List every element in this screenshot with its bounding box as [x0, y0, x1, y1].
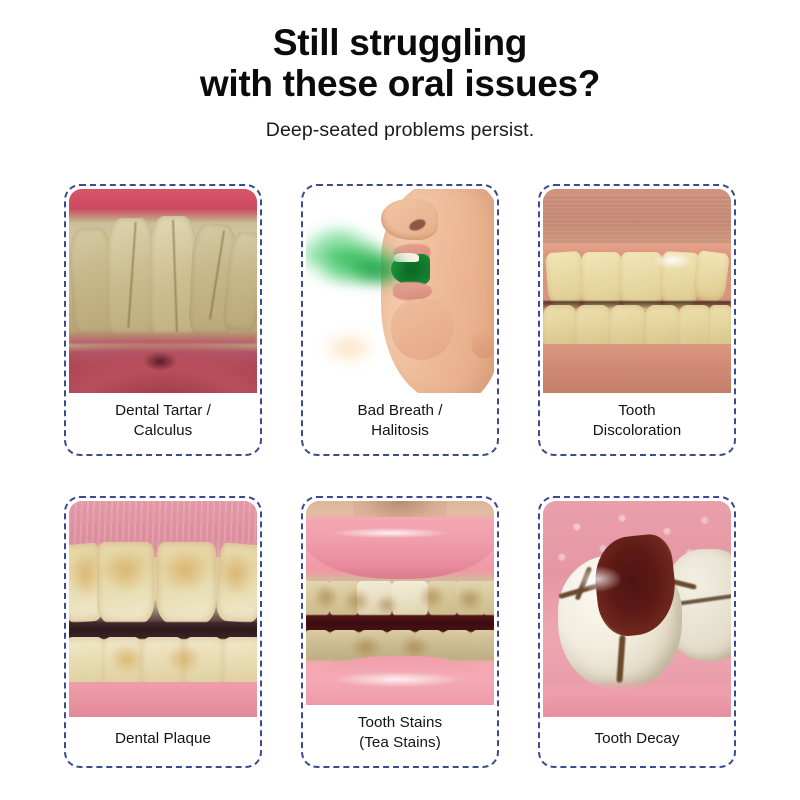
lower-tooth: [471, 630, 494, 661]
plaque-deposit: [110, 644, 144, 674]
issue-image-tooth-discoloration: [543, 189, 731, 393]
issue-card-tooth-decay[interactable]: Tooth Decay: [538, 496, 736, 768]
page-title-line-1: Still struggling: [0, 22, 800, 63]
issue-image-bad-breath: [306, 189, 494, 393]
caption-line-1: Tooth: [593, 401, 681, 421]
issue-image-dental-tartar: [69, 189, 257, 393]
caption-line-2: Calculus: [115, 421, 211, 441]
issue-caption-dental-tartar: Dental Tartar / Calculus: [69, 393, 257, 451]
plaque-deposit: [219, 553, 253, 596]
caption-line-1: Tooth Stains: [358, 713, 442, 733]
breath-cloud: [310, 226, 366, 250]
lower-tooth: [69, 637, 105, 685]
plaque-deposit: [167, 644, 201, 674]
plaque-deposit: [71, 551, 101, 599]
caption-line-2: (Tea Stains): [358, 733, 442, 753]
caption-text: Dental Plaque: [115, 729, 211, 749]
issue-caption-dental-plaque: Dental Plaque: [69, 717, 257, 763]
issue-caption-tooth-decay: Tooth Decay: [543, 717, 731, 763]
issue-card-dental-tartar[interactable]: Dental Tartar / Calculus: [64, 184, 262, 456]
caption-line-1: Dental Tartar /: [115, 401, 211, 421]
lower-tooth: [223, 637, 257, 685]
gum-texture: [543, 195, 731, 244]
dental-tartar-photo-art: [69, 189, 257, 393]
breath-cloud: [314, 264, 359, 282]
upper-lip: [306, 517, 494, 578]
caption-text: Bad Breath / Halitosis: [357, 401, 442, 442]
issue-card-grid: Dental Tartar / Calculus: [64, 184, 736, 768]
upper-tooth: [692, 250, 730, 302]
enamel-highlight: [573, 566, 622, 592]
chin: [391, 299, 453, 360]
lip-highlight: [336, 672, 460, 686]
fissure: [674, 594, 731, 606]
upper-tooth: [483, 581, 494, 618]
tooth-discoloration-photo-art: [543, 189, 731, 393]
caption-line-2: Halitosis: [357, 421, 442, 441]
gum-lower: [543, 344, 731, 393]
tooth-decay-photo-art: [543, 501, 731, 717]
tooth-stains-photo-art: [306, 501, 494, 705]
bad-breath-photo-art: [306, 189, 494, 393]
lip-highlight: [332, 528, 449, 538]
plaque-deposit: [103, 549, 148, 592]
tea-stain: [344, 589, 370, 613]
tea-stain: [419, 585, 445, 609]
issue-image-tooth-stains: [306, 501, 494, 705]
caption-line-1: Bad Breath /: [357, 401, 442, 421]
tea-stain: [400, 636, 430, 658]
header: Still struggling with these oral issues?…: [0, 0, 800, 142]
issue-card-tooth-stains[interactable]: Tooth Stains (Tea Stains): [301, 496, 499, 768]
caption-line-2: Discoloration: [593, 421, 681, 441]
breath-cloud: [355, 258, 404, 285]
infographic-page: Still struggling with these oral issues?…: [0, 0, 800, 800]
upper-tooth: [545, 251, 584, 308]
issue-card-tooth-discoloration[interactable]: Tooth Discoloration: [538, 184, 736, 456]
warm-glow: [321, 332, 377, 365]
issue-image-tooth-decay: [543, 501, 731, 717]
issue-caption-bad-breath: Bad Breath / Halitosis: [306, 393, 494, 451]
caption-line-1: Tooth Decay: [595, 729, 680, 749]
issue-caption-tooth-discoloration: Tooth Discoloration: [543, 393, 731, 451]
gum-lower: [69, 682, 257, 717]
page-title-line-2: with these oral issues?: [0, 63, 800, 104]
tartar-dark-spot: [144, 352, 176, 370]
caption-text: Tooth Stains (Tea Stains): [358, 713, 442, 754]
issue-image-dental-plaque: [69, 501, 257, 717]
dental-plaque-photo-art: [69, 501, 257, 717]
issue-card-bad-breath[interactable]: Bad Breath / Halitosis: [301, 184, 499, 456]
lower-lip: [393, 282, 432, 300]
page-subtitle: Deep-seated problems persist.: [0, 119, 800, 142]
gum-lower: [543, 680, 731, 717]
issue-card-dental-plaque[interactable]: Dental Plaque: [64, 496, 262, 768]
caption-text: Dental Tartar / Calculus: [115, 401, 211, 442]
tea-stain: [314, 585, 338, 609]
lower-tooth: [306, 630, 330, 661]
tea-stain: [456, 587, 482, 611]
page-title: Still struggling with these oral issues?: [0, 22, 800, 105]
plaque-deposit: [163, 549, 208, 592]
gum-highlight: [652, 252, 693, 268]
nose: [381, 199, 437, 240]
caption-text: Tooth Discoloration: [593, 401, 681, 442]
ear: [471, 332, 494, 359]
caption-line-1: Dental Plaque: [115, 729, 211, 749]
gum-line: [69, 332, 257, 344]
lower-tooth: [443, 630, 471, 661]
tea-stain: [351, 636, 381, 658]
caption-text: Tooth Decay: [595, 729, 680, 749]
issue-caption-tooth-stains: Tooth Stains (Tea Stains): [306, 705, 494, 763]
